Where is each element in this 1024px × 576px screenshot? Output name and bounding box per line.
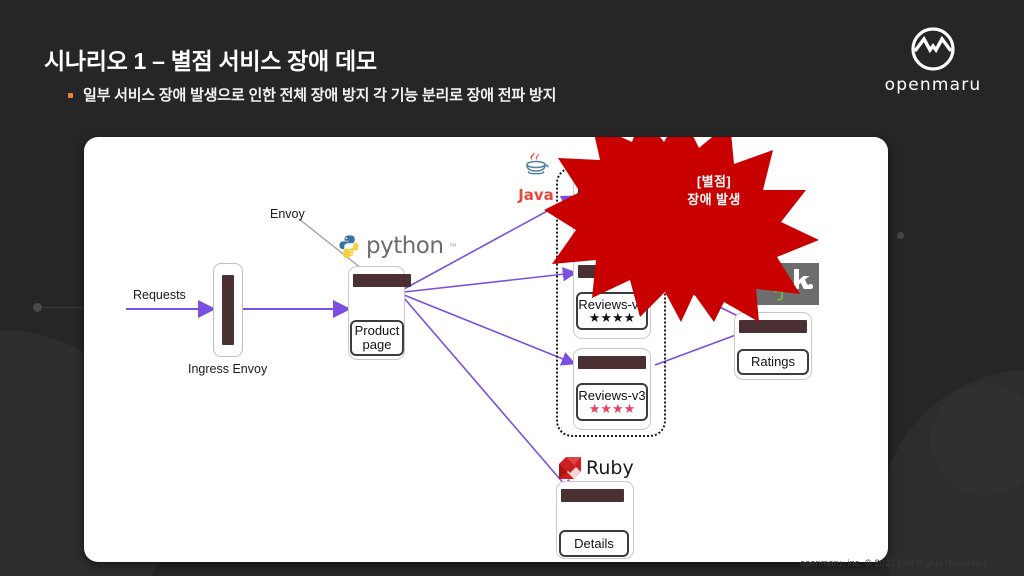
- productpage-label-line2: page: [363, 338, 392, 352]
- background-circle-right: [880, 370, 1024, 576]
- openmaru-circle-wave-icon: [910, 26, 956, 72]
- bullet-row: 일부 서비스 장애 발생으로 인한 전체 장애 방지 각 기능 분리로 장애 전…: [68, 84, 556, 105]
- reviews-v3-envoy-bar: [578, 356, 646, 369]
- brand-logo: openmaru: [878, 26, 988, 95]
- ruby-icon: [556, 454, 584, 482]
- ingress-envoy-label: Ingress Envoy: [188, 362, 267, 376]
- ruby-logo: Ruby: [556, 454, 634, 482]
- ratings-service-box: Ratings: [737, 349, 809, 375]
- python-logo: python™: [337, 233, 456, 259]
- productpage-service-box: Product page: [350, 320, 404, 356]
- bullet-text: 일부 서비스 장애 발생으로 인한 전체 장애 방지 각 기능 분리로 장애 전…: [83, 84, 556, 105]
- alert-text-line2: 장애 발생: [659, 191, 769, 209]
- details-label: Details: [574, 537, 614, 551]
- productpage-envoy-bar: [353, 274, 411, 287]
- bullet-marker-icon: [68, 93, 73, 98]
- copyright-footer: openmaru, inc. © 2021 | All Rights Reser…: [800, 558, 988, 568]
- productpage-label-line1: Product: [355, 324, 400, 338]
- ratings-label: Ratings: [751, 355, 795, 369]
- ruby-logo-text: Ruby: [586, 457, 634, 479]
- architecture-diagram: Requests Ingress Envoy Envoy python™ Pro…: [84, 137, 888, 562]
- page-title: 시나리오 1 – 별점 서비스 장애 데모: [44, 42, 377, 76]
- reviews-v3-service-box: Reviews-v3 ★★★★: [576, 383, 648, 421]
- decor-dot-right: [897, 232, 904, 239]
- brand-name: openmaru: [878, 75, 988, 95]
- alert-text-line1: [별점]: [659, 173, 769, 191]
- explosion-starburst-icon: [544, 137, 819, 322]
- diagram-card: Requests Ingress Envoy Envoy python™ Pro…: [84, 137, 888, 562]
- python-logo-text: python: [366, 233, 443, 259]
- reviews-v3-stars: ★★★★: [589, 402, 636, 415]
- ingress-envoy-bar: [222, 275, 234, 345]
- background-circle-right-small: [930, 385, 1024, 495]
- alert-text: [별점] 장애 발생: [659, 173, 769, 208]
- python-tm-icon: ™: [448, 242, 456, 251]
- envoy-callout-label: Envoy: [270, 207, 305, 221]
- python-icon: [337, 234, 361, 258]
- decor-dot-left: [33, 303, 42, 312]
- details-envoy-bar: [561, 489, 624, 502]
- decor-line-left: [42, 307, 87, 308]
- reviews-v3-label: Reviews-v3: [578, 389, 645, 403]
- details-service-box: Details: [559, 530, 629, 557]
- requests-label: Requests: [133, 288, 186, 302]
